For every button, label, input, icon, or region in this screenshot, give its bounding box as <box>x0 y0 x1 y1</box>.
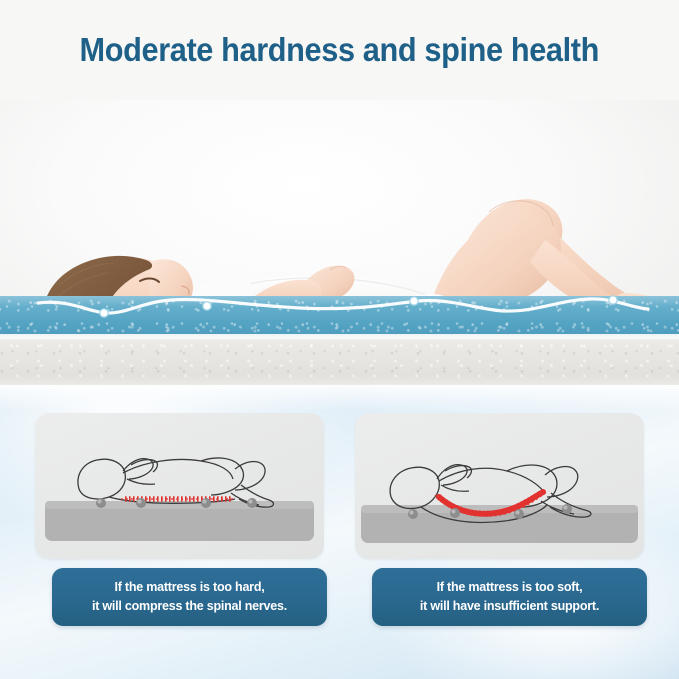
infographic-page: Moderate hardness and spine health <box>0 0 679 679</box>
caption-line-1: If the mattress is too soft, <box>388 577 630 596</box>
baby-on-hard-mattress-diagram <box>35 413 324 559</box>
hero-photo <box>0 100 679 385</box>
page-title: Moderate hardness and spine health <box>80 31 599 69</box>
caption-too-soft: If the mattress is too soft, it will hav… <box>372 568 647 626</box>
caption-line-2: it will have insufficient support. <box>388 596 630 615</box>
caption-too-hard: If the mattress is too hard, it will com… <box>52 568 327 626</box>
comparison-cards: If the mattress is too hard, it will com… <box>0 385 679 679</box>
comparison-section: If the mattress is too hard, it will com… <box>0 385 679 679</box>
caption-line-2: it will compress the spinal nerves. <box>68 596 310 615</box>
baby-on-soft-mattress-diagram <box>355 413 644 559</box>
comparison-card-too-hard: If the mattress is too hard, it will com… <box>35 413 324 559</box>
hero-bottom-fade <box>0 375 679 385</box>
mattress-contour-line <box>0 100 679 385</box>
header-banner: Moderate hardness and spine health <box>0 0 679 100</box>
caption-line-1: If the mattress is too hard, <box>68 577 310 596</box>
comparison-card-too-soft: If the mattress is too soft, it will hav… <box>355 413 644 559</box>
